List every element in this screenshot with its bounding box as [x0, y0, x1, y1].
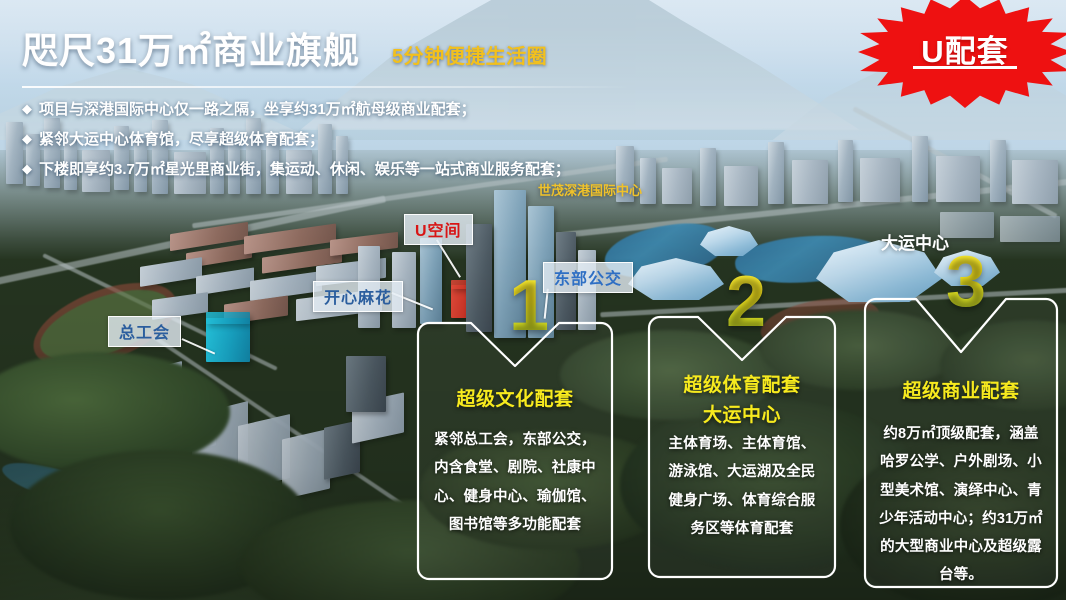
panel-body: 紧邻总工会，东部公交，内含食堂、剧院、社康中心、健身中心、瑜伽馆、图书馆等多功能… — [431, 426, 599, 539]
status-badge: U配套 — [858, 0, 1066, 108]
map-callout-union[interactable]: 总工会 — [108, 316, 181, 347]
diamond-bullet-icon: ◆ — [22, 100, 32, 118]
building — [6, 122, 23, 184]
building — [990, 140, 1006, 202]
map-label-shimao-center: 世茂深港国际中心 — [538, 180, 642, 199]
page-title-text: 咫尺31万㎡商业旗舰 — [22, 30, 360, 71]
map-callout-label: U空间 — [415, 223, 462, 240]
highlighted-building-roof — [206, 312, 250, 324]
list-item-label: 下楼即享约3.7万㎡星光里商业街，集运动、休闲、娱乐等一站式商业服务配套； — [39, 160, 570, 179]
tower — [420, 238, 442, 324]
info-panel-1[interactable]: 1 超级文化配套 紧邻总工会，东部公交，内含食堂、剧院、社康中心、健身中心、瑜伽… — [417, 322, 613, 580]
building — [838, 140, 853, 202]
building — [860, 158, 900, 202]
map-callout-u-space[interactable]: U空间 — [404, 214, 473, 245]
page-title: 咫尺31万㎡商业旗舰 — [22, 22, 360, 74]
page-subtitle: 5分钟便捷生活圈 — [392, 40, 547, 69]
map-callout-east-bus[interactable]: 东部公交 — [543, 262, 633, 293]
building — [1000, 216, 1060, 242]
building — [936, 156, 980, 202]
building — [724, 166, 758, 206]
residential-tower — [346, 356, 386, 412]
info-panel-2[interactable]: 2 超级体育配套 大运中心 主体育场、主体育馆、游泳馆、大运湖及全民健身广场、体… — [648, 316, 836, 578]
diamond-bullet-icon: ◆ — [22, 130, 32, 148]
building — [792, 160, 828, 204]
map-callout-label: 开心麻花 — [324, 290, 392, 307]
building — [700, 148, 716, 206]
panel-body: 主体育场、主体育馆、游泳馆、大运湖及全民健身广场、体育综合服务区等体育配套 — [662, 430, 822, 543]
map-label-universiade-center: 大运中心 — [881, 229, 949, 254]
panel-title: 超级商业配套 — [864, 376, 1058, 403]
building — [662, 168, 692, 204]
stadium-dome — [700, 226, 758, 256]
building — [768, 142, 784, 204]
panel-title: 超级文化配套 — [417, 384, 613, 411]
highlighted-building-union — [206, 318, 250, 362]
list-item-label: 项目与深港国际中心仅一路之隔，坐享约31万㎡航母级商业配套； — [39, 100, 476, 119]
building — [912, 136, 928, 202]
building — [1012, 160, 1058, 204]
map-callout-happy-twist[interactable]: 开心麻花 — [313, 281, 403, 312]
map-callout-label: 总工会 — [119, 325, 170, 342]
status-badge-label: U配套 — [858, 26, 1066, 71]
diamond-bullet-icon: ◆ — [22, 160, 32, 178]
header-divider — [22, 86, 630, 88]
poster-canvas: 咫尺31万㎡商业旗舰 5分钟便捷生活圈 ◆ 项目与深港国际中心仅一路之隔，坐享约… — [0, 0, 1066, 600]
panel-title: 超级体育配套 — [648, 370, 836, 397]
list-item-label: 紧邻大运中心体育馆，尽享超级体育配套； — [39, 130, 324, 149]
panel-subtitle: 大运中心 — [648, 400, 836, 427]
info-panel-3[interactable]: 3 超级商业配套 约8万㎡顶级配套，涵盖哈罗公学、户外剧场、小型美术馆、演绎中心… — [864, 298, 1058, 588]
badge-underline — [913, 66, 1017, 69]
list-item: ◆ 下楼即享约3.7万㎡星光里商业街，集运动、休闲、娱乐等一站式商业服务配套； — [22, 160, 662, 179]
feature-bullet-list: ◆ 项目与深港国际中心仅一路之隔，坐享约31万㎡航母级商业配套； ◆ 紧邻大运中… — [22, 100, 662, 191]
stadium-universiade-small — [628, 258, 724, 300]
panel-body: 约8万㎡顶级配套，涵盖哈罗公学、户外剧场、小型美术馆、演绎中心、青少年活动中心；… — [878, 420, 1044, 590]
list-item: ◆ 紧邻大运中心体育馆，尽享超级体育配套； — [22, 130, 662, 149]
list-item: ◆ 项目与深港国际中心仅一路之隔，坐享约31万㎡航母级商业配套； — [22, 100, 662, 119]
map-callout-label: 东部公交 — [554, 271, 622, 288]
